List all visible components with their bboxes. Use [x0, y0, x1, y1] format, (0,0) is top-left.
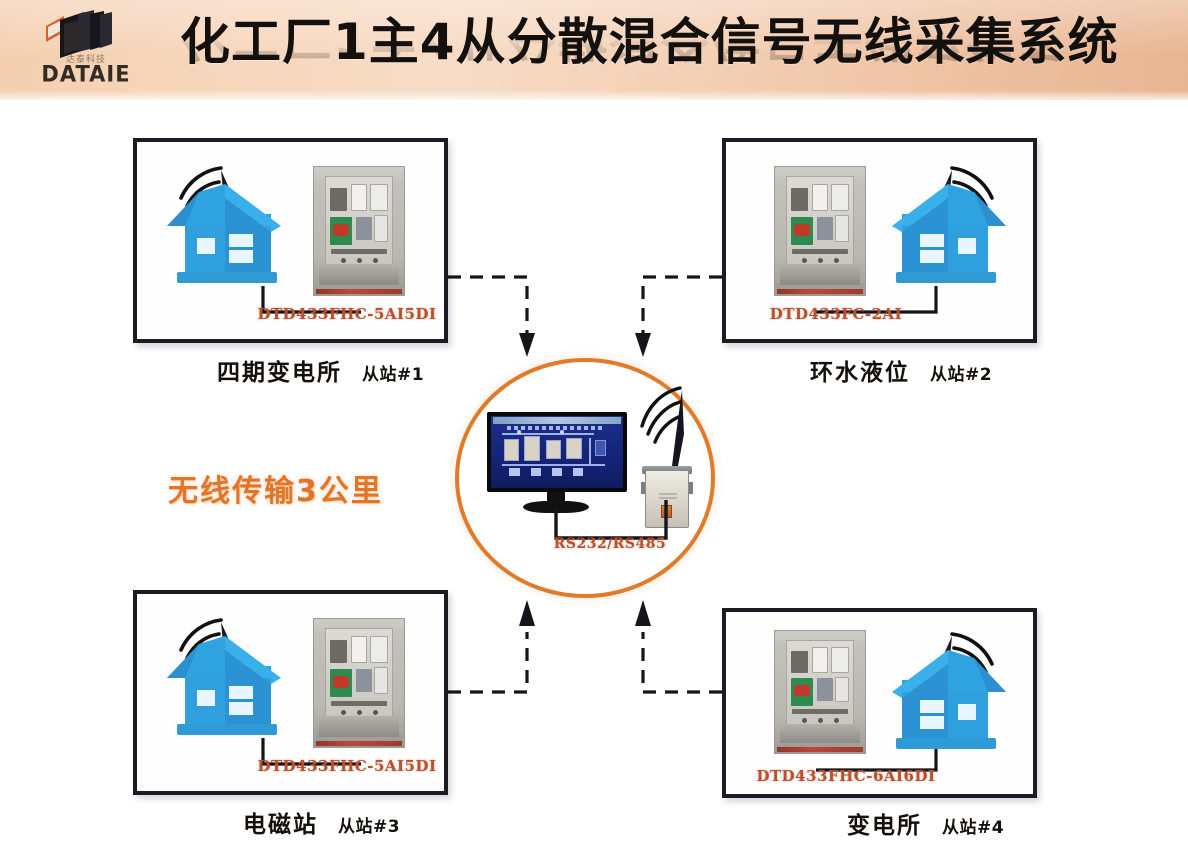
station-frame: DTD433FHC-6AI6DI [722, 608, 1037, 798]
header-banner: 达泰科技 DATAIE 化工厂1主4从分散混合信号无线采集系统 化工厂1主4从分… [0, 0, 1188, 100]
station-name: 变电所 [847, 813, 922, 839]
station-slave-id: 从站#3 [338, 817, 400, 837]
page-title: 化工厂1主4从分散混合信号无线采集系统 [180, 12, 1060, 74]
station-name: 环水液位 [810, 360, 910, 386]
station-caption: 电磁站从站#3 [243, 805, 400, 839]
serial-interface-label: RS232/RS485 [505, 536, 715, 552]
station-frame: DTD433FHC-5AI5DI [133, 590, 448, 795]
logo-wordmark: DATAIE [30, 61, 142, 86]
device-model-label: DTD433FC-2AI [736, 305, 936, 323]
device-model-label: DTD433FHC-5AI5DI [247, 757, 447, 775]
company-logo: 达泰科技 DATAIE [24, 8, 144, 94]
house-antenna-icon [884, 620, 1014, 770]
device-model-label: DTD433FHC-5AI5DI [247, 305, 447, 323]
station-slave-id: 从站#2 [930, 365, 992, 385]
link-slave4-to-hub [635, 600, 722, 692]
control-cabinet-photo [774, 166, 866, 296]
house-antenna-icon [884, 154, 1014, 304]
station-name: 四期变电所 [217, 360, 342, 386]
control-cabinet-photo [313, 166, 405, 296]
device-model-label: DTD433FHC-6AI6DI [736, 767, 956, 785]
station-caption: 四期变电所从站#1 [217, 353, 424, 387]
control-cabinet-photo [313, 618, 405, 748]
station-caption: 变电所从站#4 [847, 806, 1004, 840]
link-slave2-to-hub [635, 277, 722, 357]
station-frame: DTD433FC-2AI [722, 138, 1037, 343]
link-slave1-to-hub [448, 277, 535, 357]
control-cabinet-photo [774, 630, 866, 754]
station-slave-id: 从站#1 [362, 365, 424, 385]
hmi-screen-content [491, 416, 623, 488]
wireless-range-note: 无线传输3公里 [168, 466, 438, 510]
station-frame: DTD433FHC-5AI5DI [133, 138, 448, 343]
station-slave-id: 从站#4 [942, 818, 1004, 838]
link-slave3-to-hub [448, 600, 535, 692]
station-caption: 环水液位从站#2 [810, 353, 992, 387]
station-name: 电磁站 [243, 812, 318, 838]
diagram-page: 达泰科技 DATAIE 化工厂1主4从分散混合信号无线采集系统 化工厂1主4从分… [0, 0, 1188, 850]
